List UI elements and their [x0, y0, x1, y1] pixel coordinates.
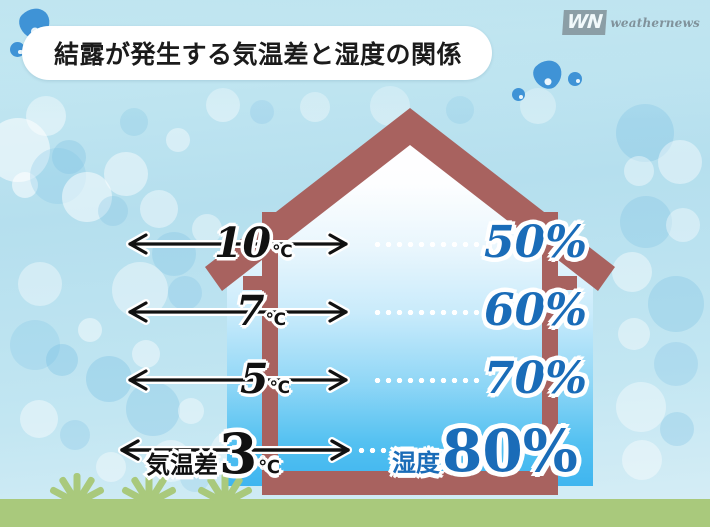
data-row-highlight: 気温差 3 ℃ 湿度 80% [0, 420, 710, 480]
temperature-label: 10 ℃ [214, 223, 293, 264]
weathernews-logo: WN weathernews [563, 10, 700, 35]
humidity-unit: % [545, 353, 587, 404]
double-arrow-icon [112, 357, 364, 403]
leader-dots [372, 378, 482, 383]
humidity-text: 湿度 [392, 451, 440, 475]
data-row: 5 ℃ 70% [0, 357, 710, 403]
temperature-unit: ℃ [266, 312, 287, 329]
humidity-value: 60 [484, 285, 545, 336]
temperature-unit: ℃ [258, 459, 280, 477]
wn-logo-icon: WN [562, 10, 607, 35]
humidity-label: 50% [484, 221, 587, 265]
page-title: 結露が発生する気温差と湿度の関係 [54, 35, 462, 71]
temperature-arrow [112, 357, 364, 403]
title-banner: 結露が発生する気温差と湿度の関係 [22, 26, 492, 80]
humidity-label-highlight: 湿度 80% [392, 422, 578, 480]
temperature-value: 5 [240, 359, 269, 400]
humidity-unit: % [545, 285, 587, 336]
leader-dots [372, 242, 482, 247]
water-drop-small-icon [568, 72, 582, 86]
infographic-canvas: 結露が発生する気温差と湿度の関係 WN weathernews 10 [0, 0, 710, 527]
temperature-label: 5 ℃ [240, 359, 290, 400]
leader-dots [372, 310, 482, 315]
humidity-value: 50 [484, 217, 545, 268]
humidity-unit: % [545, 217, 587, 268]
ground-strip [0, 499, 710, 527]
logo-wordmark: weathernews [610, 16, 700, 30]
water-drop-small-icon [512, 88, 525, 101]
temperature-unit: ℃ [270, 380, 291, 397]
temperature-difference-text: 気温差 [146, 453, 218, 477]
temperature-difference-label: 気温差 3 ℃ [146, 426, 280, 481]
temperature-value: 7 [236, 291, 265, 332]
humidity-label: 60% [484, 289, 587, 333]
data-row: 7 ℃ 60% [0, 289, 710, 335]
temperature-unit: ℃ [272, 244, 293, 261]
temperature-label: 7 ℃ [236, 291, 286, 332]
humidity-value: 80% [442, 422, 578, 480]
temperature-value: 3 [219, 426, 257, 481]
humidity-label: 70% [484, 357, 587, 401]
data-row: 10 ℃ 50% [0, 221, 710, 267]
humidity-value: 70 [484, 353, 545, 404]
leader-dots [356, 448, 394, 453]
temperature-value: 10 [214, 223, 271, 264]
